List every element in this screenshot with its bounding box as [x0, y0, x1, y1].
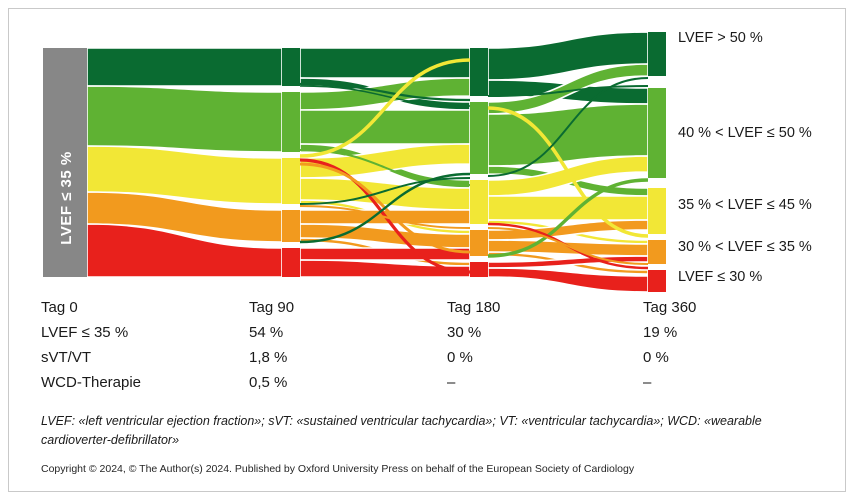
sankey-node-t180_35_45: [470, 180, 488, 224]
table-row: sVT/VT 1,8 % 0 % 0 %: [41, 349, 761, 374]
row-label-lvef: LVEF ≤ 35 %: [41, 324, 249, 341]
table-row: WCD-Therapie 0,5 % – –: [41, 374, 761, 399]
row-label-wcd: WCD-Therapie: [41, 374, 249, 391]
sankey-node-t360_30_35: [648, 240, 666, 264]
category-label-le30: LVEF ≤ 30 %: [678, 269, 762, 285]
cell-lvef-tag90: 54 %: [249, 324, 447, 341]
sankey-link: [87, 48, 282, 86]
cell-wcd-tag90: 0,5 %: [249, 374, 447, 391]
sankey-node-t90_gt50: [282, 48, 300, 86]
sankey-link: [87, 86, 282, 152]
sankey-node-t180_40_50: [470, 102, 488, 174]
column-header-tag180: Tag 180: [447, 299, 643, 316]
table-row: LVEF ≤ 35 % 54 % 30 % 19 %: [41, 324, 761, 349]
abbreviation-footnote: LVEF: «left ventricular ejection fractio…: [41, 412, 781, 450]
sankey-node-t360_gt50: [648, 32, 666, 76]
category-label-35to45: 35 % < LVEF ≤ 45 %: [678, 197, 812, 213]
column-header-tag360: Tag 360: [643, 299, 761, 316]
sankey-node-t180_30_35: [470, 230, 488, 256]
column-header-tag90: Tag 90: [249, 299, 447, 316]
table-header-row: Tag 0 Tag 90 Tag 180 Tag 360: [41, 299, 761, 324]
summary-table: Tag 0 Tag 90 Tag 180 Tag 360 LVEF ≤ 35 %…: [41, 299, 761, 399]
row-label-svt: sVT/VT: [41, 349, 249, 366]
cell-svt-tag180: 0 %: [447, 349, 643, 366]
figure-container: LVEF > 50 %40 % < LVEF ≤ 50 %35 % < LVEF…: [0, 0, 854, 500]
sankey-node-t360_le30: [648, 270, 666, 292]
column-header-tag0: Tag 0: [41, 299, 249, 316]
cell-svt-tag360: 0 %: [643, 349, 761, 366]
sankey-category-labels-layer: LVEF > 50 %40 % < LVEF ≤ 50 %35 % < LVEF…: [678, 30, 812, 285]
sankey-node-t90_30_35: [282, 210, 300, 242]
cell-svt-tag90: 1,8 %: [249, 349, 447, 366]
cell-lvef-tag180: 30 %: [447, 324, 643, 341]
sankey-links-layer: [87, 32, 648, 292]
sankey-node-t360_35_45: [648, 188, 666, 234]
copyright-notice: Copyright © 2024, © The Author(s) 2024. …: [41, 463, 801, 475]
sankey-node-t360_40_50: [648, 88, 666, 178]
category-label-30to35: 30 % < LVEF ≤ 35 %: [678, 239, 812, 255]
sankey-node-t180_gt50: [470, 48, 488, 96]
sankey-node-t180_le30: [470, 262, 488, 277]
sankey-node-t90_35_45: [282, 158, 300, 204]
sankey-link: [300, 110, 470, 144]
category-label-gt50: LVEF > 50 %: [678, 30, 763, 46]
cell-lvef-tag360: 19 %: [643, 324, 761, 341]
cell-wcd-tag180: –: [447, 374, 643, 391]
sankey-node-t90_40_50: [282, 92, 300, 152]
sankey-node-t90_le30: [282, 248, 300, 277]
cell-wcd-tag360: –: [643, 374, 761, 391]
source-node-label: LVEF ≤ 35 %: [58, 151, 75, 244]
category-label-40to50: 40 % < LVEF ≤ 50 %: [678, 125, 812, 141]
